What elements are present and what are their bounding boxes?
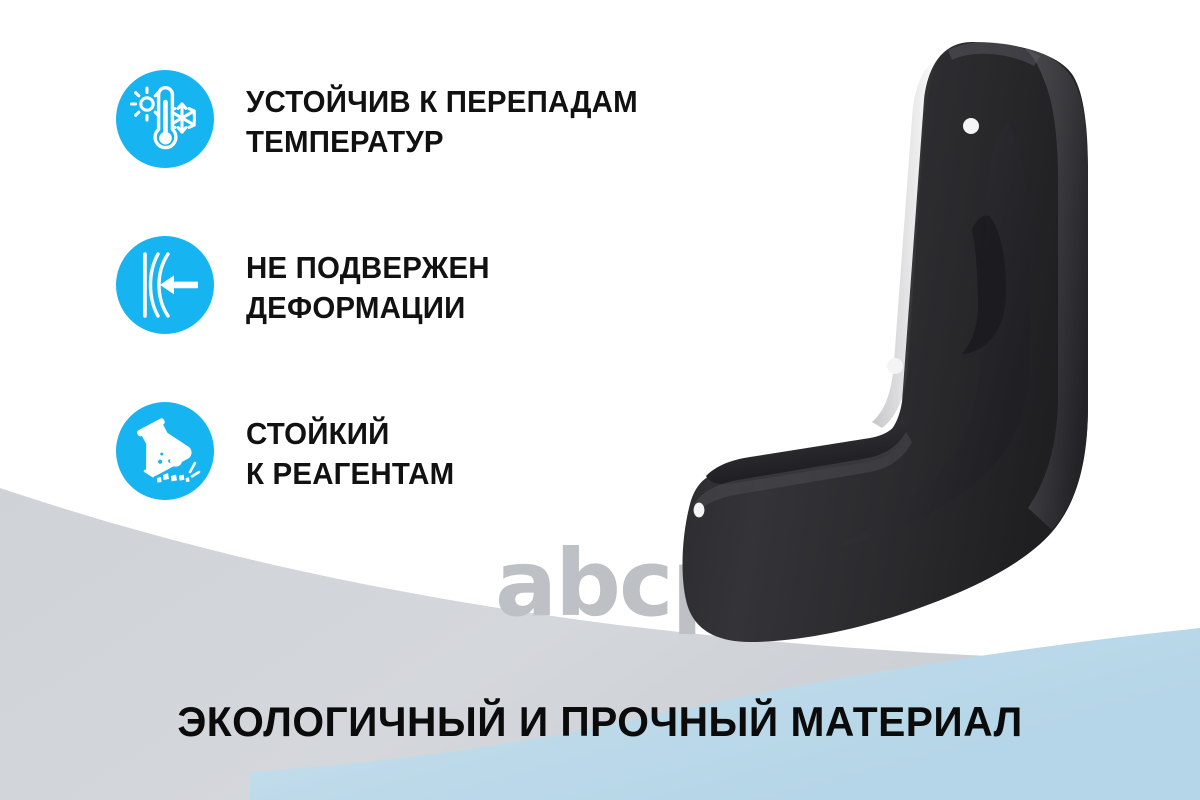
bottom-caption: ЭКОЛОГИЧНЫЙ И ПРОЧНЫЙ МАТЕРИАЛ — [18, 698, 1182, 746]
feature-item-deformation: НЕ ПОДВЕРЖЕН ДЕФОРМАЦИИ — [116, 236, 736, 334]
feature-label-deformation: НЕ ПОДВЕРЖЕН ДЕФОРМАЦИИ — [246, 236, 490, 327]
thermometer-sun-snowflake-icon — [116, 70, 214, 168]
feature-item-reagents: СТОЙКИЙ К РЕАГЕНТАМ — [116, 402, 736, 500]
feature-item-temperature: УСТОЙЧИВ К ПЕРЕПАДАМ ТЕМПЕРАТУР — [116, 70, 736, 168]
mounting-hole-mid — [887, 358, 903, 374]
product-image-mud-flap — [672, 34, 1122, 654]
feature-label-reagents: СТОЙКИЙ К РЕАГЕНТАМ — [246, 402, 454, 493]
impact-arrow-flex-icon — [116, 236, 214, 334]
product-feature-banner: УСТОЙЧИВ К ПЕРЕПАДАМ ТЕМПЕРАТУР — [0, 0, 1200, 800]
chemical-flask-drop-icon — [116, 402, 214, 500]
feature-label-temperature: УСТОЙЧИВ К ПЕРЕПАДАМ ТЕМПЕРАТУР — [246, 70, 638, 161]
mounting-hole-top — [963, 118, 979, 134]
feature-list: УСТОЙЧИВ К ПЕРЕПАДАМ ТЕМПЕРАТУР — [116, 70, 736, 568]
